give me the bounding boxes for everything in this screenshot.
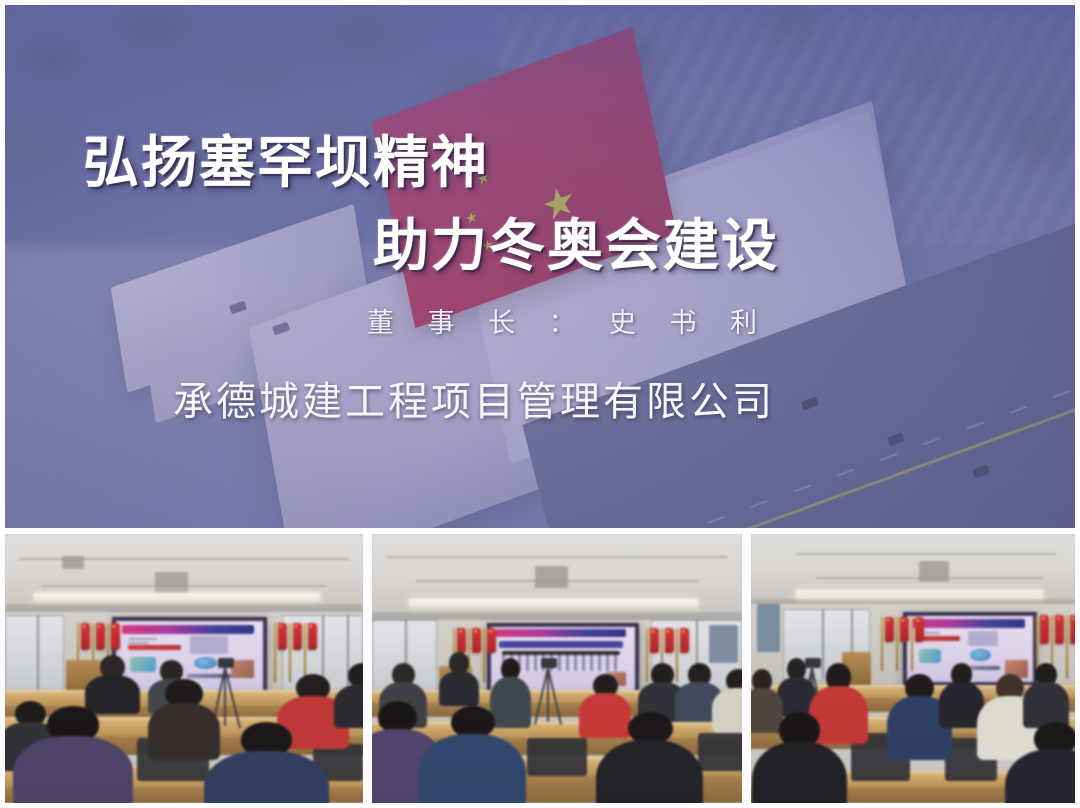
- conference-photo-strip: [5, 534, 1075, 803]
- headline-line-1: 弘扬塞罕坝精神: [83, 118, 489, 199]
- headline-line-2: 助力冬奥会建设: [373, 201, 779, 282]
- hero-text-block: 弘扬塞罕坝精神 助力冬奥会建设 董 事 长 ： 史 书 利 承德城建工程项目管理…: [5, 5, 1075, 528]
- chairman-role-line: 董 事 长 ： 史 书 利: [367, 301, 770, 340]
- photo-1[interactable]: [5, 534, 363, 803]
- photo-2[interactable]: [372, 534, 742, 803]
- hero-banner: ★ ★ ★ ★ ★ 弘扬塞罕坝精神 助力冬奥会建设 董 事 长 ： 史 书 利 …: [5, 5, 1075, 528]
- photo-3[interactable]: [751, 534, 1075, 803]
- company-name-line: 承德城建工程项目管理有限公司: [173, 369, 775, 427]
- poster-page: ★ ★ ★ ★ ★ 弘扬塞罕坝精神 助力冬奥会建设 董 事 长 ： 史 书 利 …: [0, 0, 1080, 808]
